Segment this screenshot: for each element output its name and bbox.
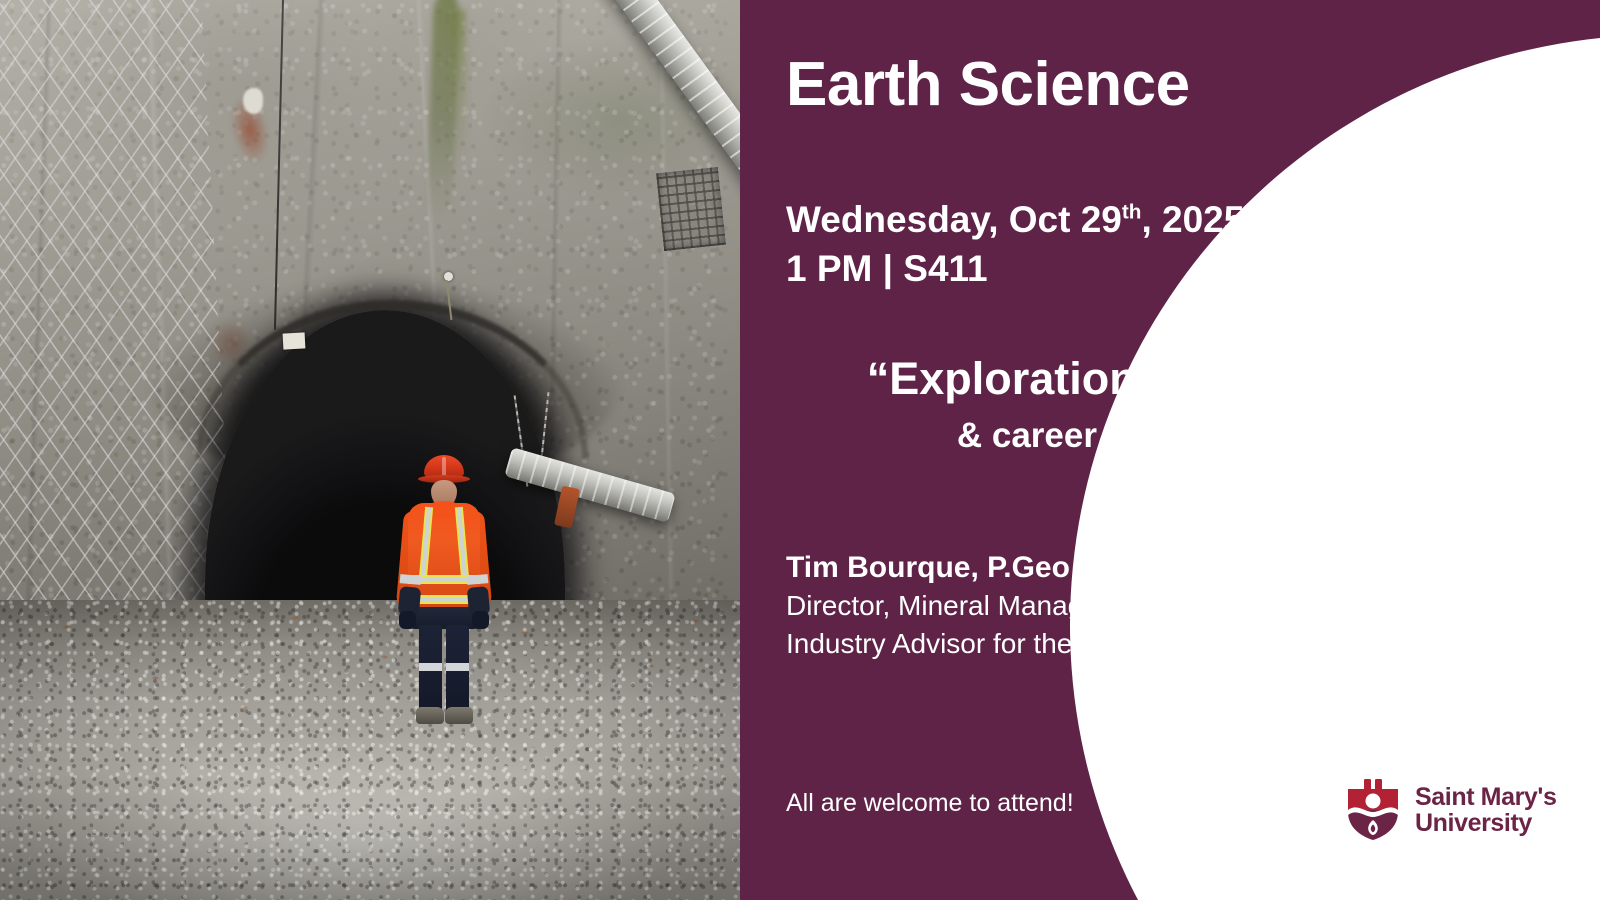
event-info-panel: Earth Science Wednesday, Oct 29th, 2025 …: [740, 0, 1600, 900]
smu-logo: Saint Mary's University: [1345, 773, 1541, 847]
boot-right-icon: [445, 707, 473, 724]
event-date-year: , 2025: [1141, 199, 1244, 240]
glove-left-icon: [399, 611, 416, 629]
smu-wordmark: Saint Mary's University: [1415, 784, 1556, 837]
speaker-role-line-2: Industry Advisor for the SMU SEG Student…: [786, 625, 1421, 663]
reflective-band-leg-right: [446, 663, 469, 671]
smu-shield-crest-icon: [1345, 779, 1401, 841]
talk-details: “Exploration to Mining 101“ & career pat…: [740, 352, 1600, 457]
event-poster: Earth Science Wednesday, Oct 29th, 2025 …: [0, 0, 1600, 900]
speaker-name: Tim Bourque, P.Geo: [786, 548, 1421, 587]
speaker-role-line-1: Director, Mineral Management, Government…: [786, 587, 1421, 625]
smu-wordmark-line-1: Saint Mary's: [1415, 784, 1556, 811]
talk-title: “Exploration to Mining 101“: [740, 352, 1600, 405]
page-title: Earth Science: [786, 52, 1190, 117]
welcome-note: All are welcome to attend!: [786, 789, 1074, 818]
mine-worker-figure: [398, 455, 490, 730]
smu-wordmark-line-2: University: [1415, 810, 1556, 837]
reflective-stripe-sleeve-right: [467, 574, 489, 585]
moss-stain-secondary-icon: [452, 10, 466, 170]
portal-notice-sign: [283, 332, 306, 349]
info-content: Earth Science Wednesday, Oct 29th, 2025 …: [740, 0, 1600, 900]
reflective-stripe-sleeve-left: [400, 574, 422, 585]
glove-right-icon: [472, 611, 489, 629]
mine-portal-photo: [0, 0, 740, 900]
gravel-road-surface: [0, 600, 740, 900]
event-date-prefix: Wednesday, Oct 2: [786, 199, 1101, 240]
event-date-ordinal: th: [1122, 201, 1142, 224]
event-datetime: Wednesday, Oct 29th, 2025 1 PM | S411: [786, 196, 1244, 294]
rock-white-patch: [243, 88, 263, 114]
vent-grate-icon: [656, 167, 726, 251]
reflective-band-leg-left: [419, 663, 442, 671]
event-date-day: 9: [1101, 199, 1122, 240]
speaker-details: Tim Bourque, P.Geo Director, Mineral Man…: [786, 548, 1421, 662]
talk-subtitle: & career path discussion: [740, 415, 1600, 457]
boot-left-icon: [416, 707, 444, 724]
ground-vignette: [0, 600, 740, 900]
event-date-line: Wednesday, Oct 29th, 2025: [786, 196, 1244, 245]
event-time-location: 1 PM | S411: [786, 245, 1244, 294]
hard-hat-ridge: [442, 457, 446, 477]
